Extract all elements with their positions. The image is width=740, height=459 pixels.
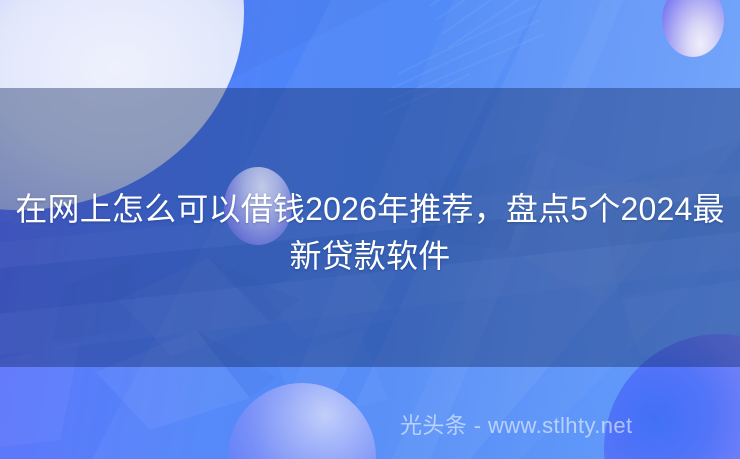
site-watermark: 光头条 - www.stlhty.net — [400, 411, 633, 441]
cover-headline: 在网上怎么可以借钱2026年推荐，盘点5个2024最新贷款软件 — [0, 186, 740, 280]
article-cover-banner: 在网上怎么可以借钱2026年推荐，盘点5个2024最新贷款软件 光头条 - ww… — [0, 0, 740, 459]
